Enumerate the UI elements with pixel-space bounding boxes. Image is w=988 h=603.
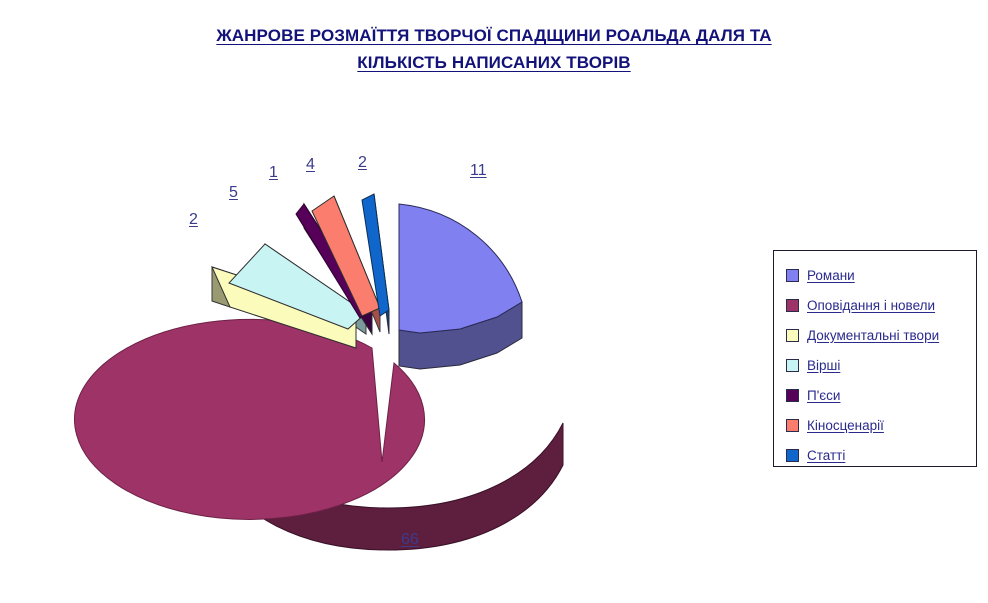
legend-item-dokumentalni[interactable]: Документальні твори [786, 320, 976, 350]
legend-swatch-icon-dokumentalni [786, 329, 799, 342]
legend-swatch-icon-kinostsenarii [786, 419, 799, 432]
pie-chart-graphic [0, 90, 760, 590]
legend-item-pyesy[interactable]: П'єси [786, 380, 976, 410]
legend-item-opovidannya[interactable]: Оповідання і новели [786, 290, 976, 320]
data-label-opovidannya: 66 [401, 531, 419, 549]
legend-swatch-icon-romany [786, 269, 799, 282]
data-label-statti: 2 [358, 154, 367, 172]
legend-swatch-icon-statti [786, 449, 799, 462]
data-label-virshi: 5 [229, 184, 238, 202]
legend-swatch-icon-pyesy [786, 389, 799, 402]
legend-label-opovidannya: Оповідання і новели [807, 298, 935, 313]
legend-item-statti[interactable]: Статті [786, 440, 976, 470]
legend-item-kinostsenarii[interactable]: Кіносценарії [786, 410, 976, 440]
legend-label-virshi: Вірші [807, 358, 840, 373]
legend-label-kinostsenarii: Кіносценарії [807, 418, 884, 433]
legend-label-romany: Романи [807, 268, 855, 283]
page-title: ЖАНРОВЕ РОЗМАЇТТЯ ТВОРЧОЇ СПАДЩИНИ РОАЛЬ… [0, 22, 988, 76]
slice-top-opovidannya [75, 319, 425, 519]
data-label-dokumentalni: 2 [189, 211, 198, 229]
legend-swatch-icon-opovidannya [786, 299, 799, 312]
legend-label-dokumentalni: Документальні твори [807, 328, 939, 343]
data-label-romany: 11 [470, 162, 487, 180]
legend-label-pyesy: П'єси [807, 388, 840, 403]
chart-legend: Романи Оповідання і новели Документальні… [773, 250, 977, 467]
legend-item-virshi[interactable]: Вірші [786, 350, 976, 380]
pie-chart-plot-area: 2 5 1 4 2 11 66 [0, 90, 760, 590]
page-title-line-2: КІЛЬКІСТЬ НАПИСАНИХ ТВОРІВ [0, 49, 988, 76]
legend-label-statti: Статті [807, 448, 845, 463]
legend-swatch-icon-virshi [786, 359, 799, 372]
legend-item-romany[interactable]: Романи [786, 260, 976, 290]
data-label-kinostsenarii: 4 [306, 156, 315, 174]
page-title-line-1: ЖАНРОВЕ РОЗМАЇТТЯ ТВОРЧОЇ СПАДЩИНИ РОАЛЬ… [0, 22, 988, 49]
data-label-pyesy: 1 [269, 164, 278, 182]
slice-top-romany [399, 204, 522, 333]
